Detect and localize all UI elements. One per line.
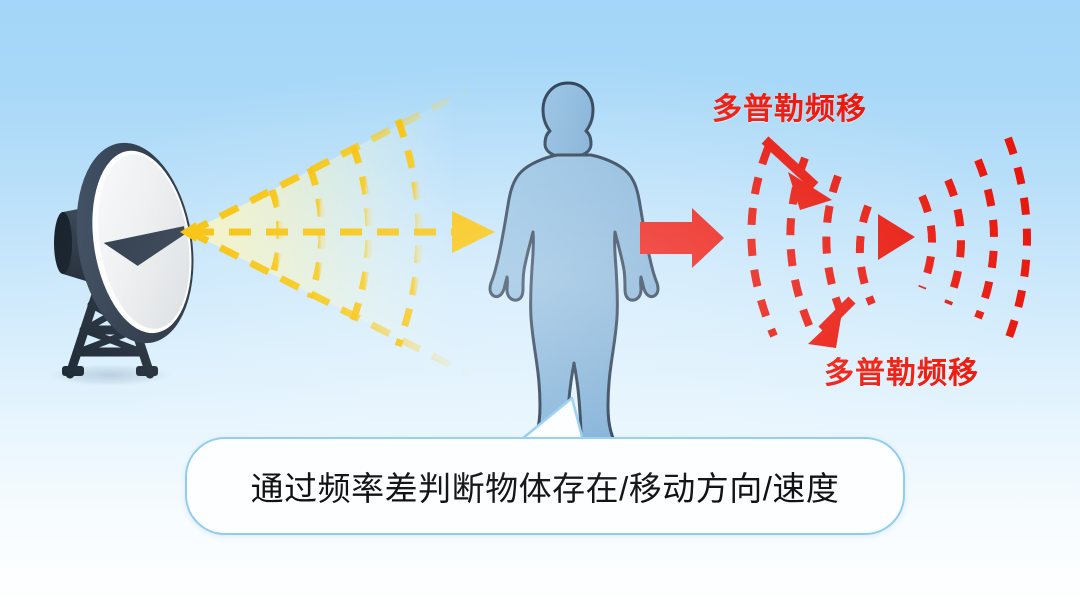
doppler-shift-label-bottom: 多普勒频移 [824, 348, 979, 392]
diagram-canvas: 多普勒频移 多普勒频移 通过频率差判断物体存在/移动方向/速度 [0, 0, 1080, 607]
explanation-callout-text: 通过频率差判断物体存在/移动方向/速度 [251, 462, 840, 510]
explanation-callout: 通过频率差判断物体存在/移动方向/速度 [185, 437, 905, 535]
doppler-shift-label-top: 多普勒频移 [712, 84, 867, 128]
